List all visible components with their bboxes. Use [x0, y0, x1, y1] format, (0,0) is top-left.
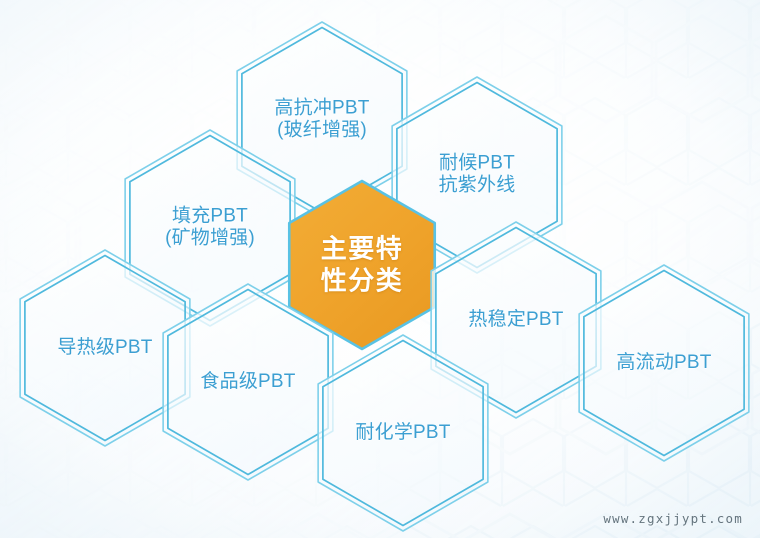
site-watermark: www.zgxjjypt.com [603, 511, 743, 526]
diagram-canvas: 高抗冲PBT (玻纤增强)耐候PBT 抗紫外线填充PBT (矿物增强)主要特 性… [0, 0, 760, 538]
hexagon-shapes-layer [0, 0, 760, 538]
hexagon-outline-outer-high-flow-pbt [579, 265, 749, 461]
hexagon-high-flow-pbt[interactable] [579, 265, 749, 461]
